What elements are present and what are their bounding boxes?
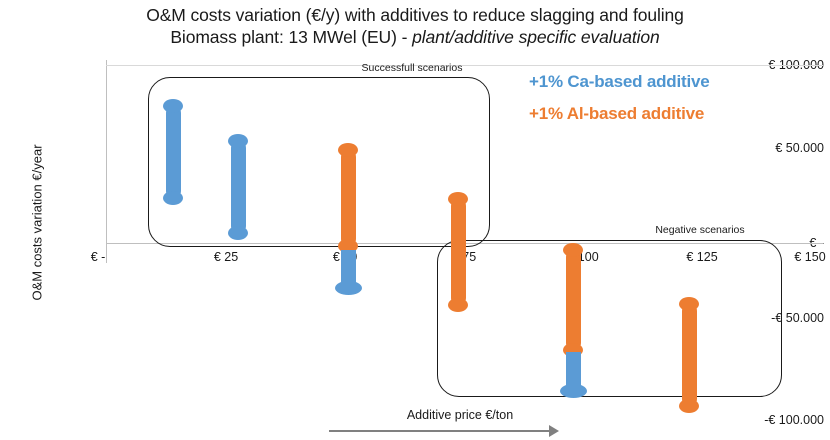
legend-item-ca-based[interactable]: +1% Ca-based additive	[529, 72, 710, 92]
bar-al-3[interactable]	[566, 250, 581, 350]
chart-legend: +1% Ca-based additive +1% Al-based addit…	[529, 72, 710, 136]
bar-ca-2[interactable]	[231, 141, 246, 233]
bar-cap-bottom-icon	[228, 226, 248, 240]
x-tick-150: € 150	[794, 250, 825, 264]
x-axis-annotation-arrow-line	[329, 430, 551, 432]
annotation-box-successful	[148, 77, 490, 247]
bar-cap-bottom-icon	[448, 298, 468, 312]
bar-al-1[interactable]	[341, 150, 356, 246]
bar-cap-top-icon	[563, 243, 583, 257]
annotation-box-negative	[437, 240, 782, 397]
x-tick-25: € 25	[214, 250, 238, 264]
bar-cap-top-icon	[163, 99, 183, 113]
bar-ca-4-lower-segment	[566, 352, 581, 390]
annotation-label-successful: Successfull scenarios	[362, 62, 463, 74]
bar-ca-1[interactable]	[166, 106, 181, 198]
bar-cap-top-icon	[679, 297, 699, 311]
y-tick-neg100000: -€ 100.000	[724, 413, 830, 427]
bar-al-4[interactable]	[682, 304, 697, 406]
y-tick-50000: € 50.000	[724, 141, 830, 155]
gridline-top	[106, 65, 823, 66]
y-axis-title: O&M costs variation €/year	[30, 123, 45, 323]
bar-cap-top-icon	[448, 192, 468, 206]
bar-cap-bottom-icon	[679, 399, 699, 413]
x-axis-annotation-arrow-head-icon	[549, 425, 559, 437]
bar-al-2[interactable]	[451, 199, 466, 305]
y-axis-line	[106, 60, 107, 263]
legend-item-al-based[interactable]: +1% Al-based additive	[529, 104, 710, 124]
x-tick-mark-0	[106, 243, 107, 249]
chart-canvas: O&M costs variation (€/y) with additives…	[0, 0, 830, 440]
chart-title: O&M costs variation (€/y) with additives…	[0, 4, 830, 26]
chart-subtitle-plain: Biomass plant: 13 MWel (EU) -	[170, 27, 412, 47]
chart-subtitle: Biomass plant: 13 MWel (EU) - plant/addi…	[0, 26, 830, 48]
x-tick-0: € -	[91, 250, 106, 264]
bar-cap-top-icon	[338, 143, 358, 157]
chart-subtitle-italic: plant/additive specific evaluation	[412, 27, 660, 47]
x-axis-annotation-label: Additive price €/ton	[330, 408, 590, 422]
chart-title-block: O&M costs variation (€/y) with additives…	[0, 4, 830, 49]
annotation-label-negative: Negative scenarios	[655, 224, 744, 236]
bar-cap-bottom-icon	[163, 191, 183, 205]
bar-ca-3-lower-segment	[341, 250, 356, 288]
bar-cap-top-icon	[228, 134, 248, 148]
